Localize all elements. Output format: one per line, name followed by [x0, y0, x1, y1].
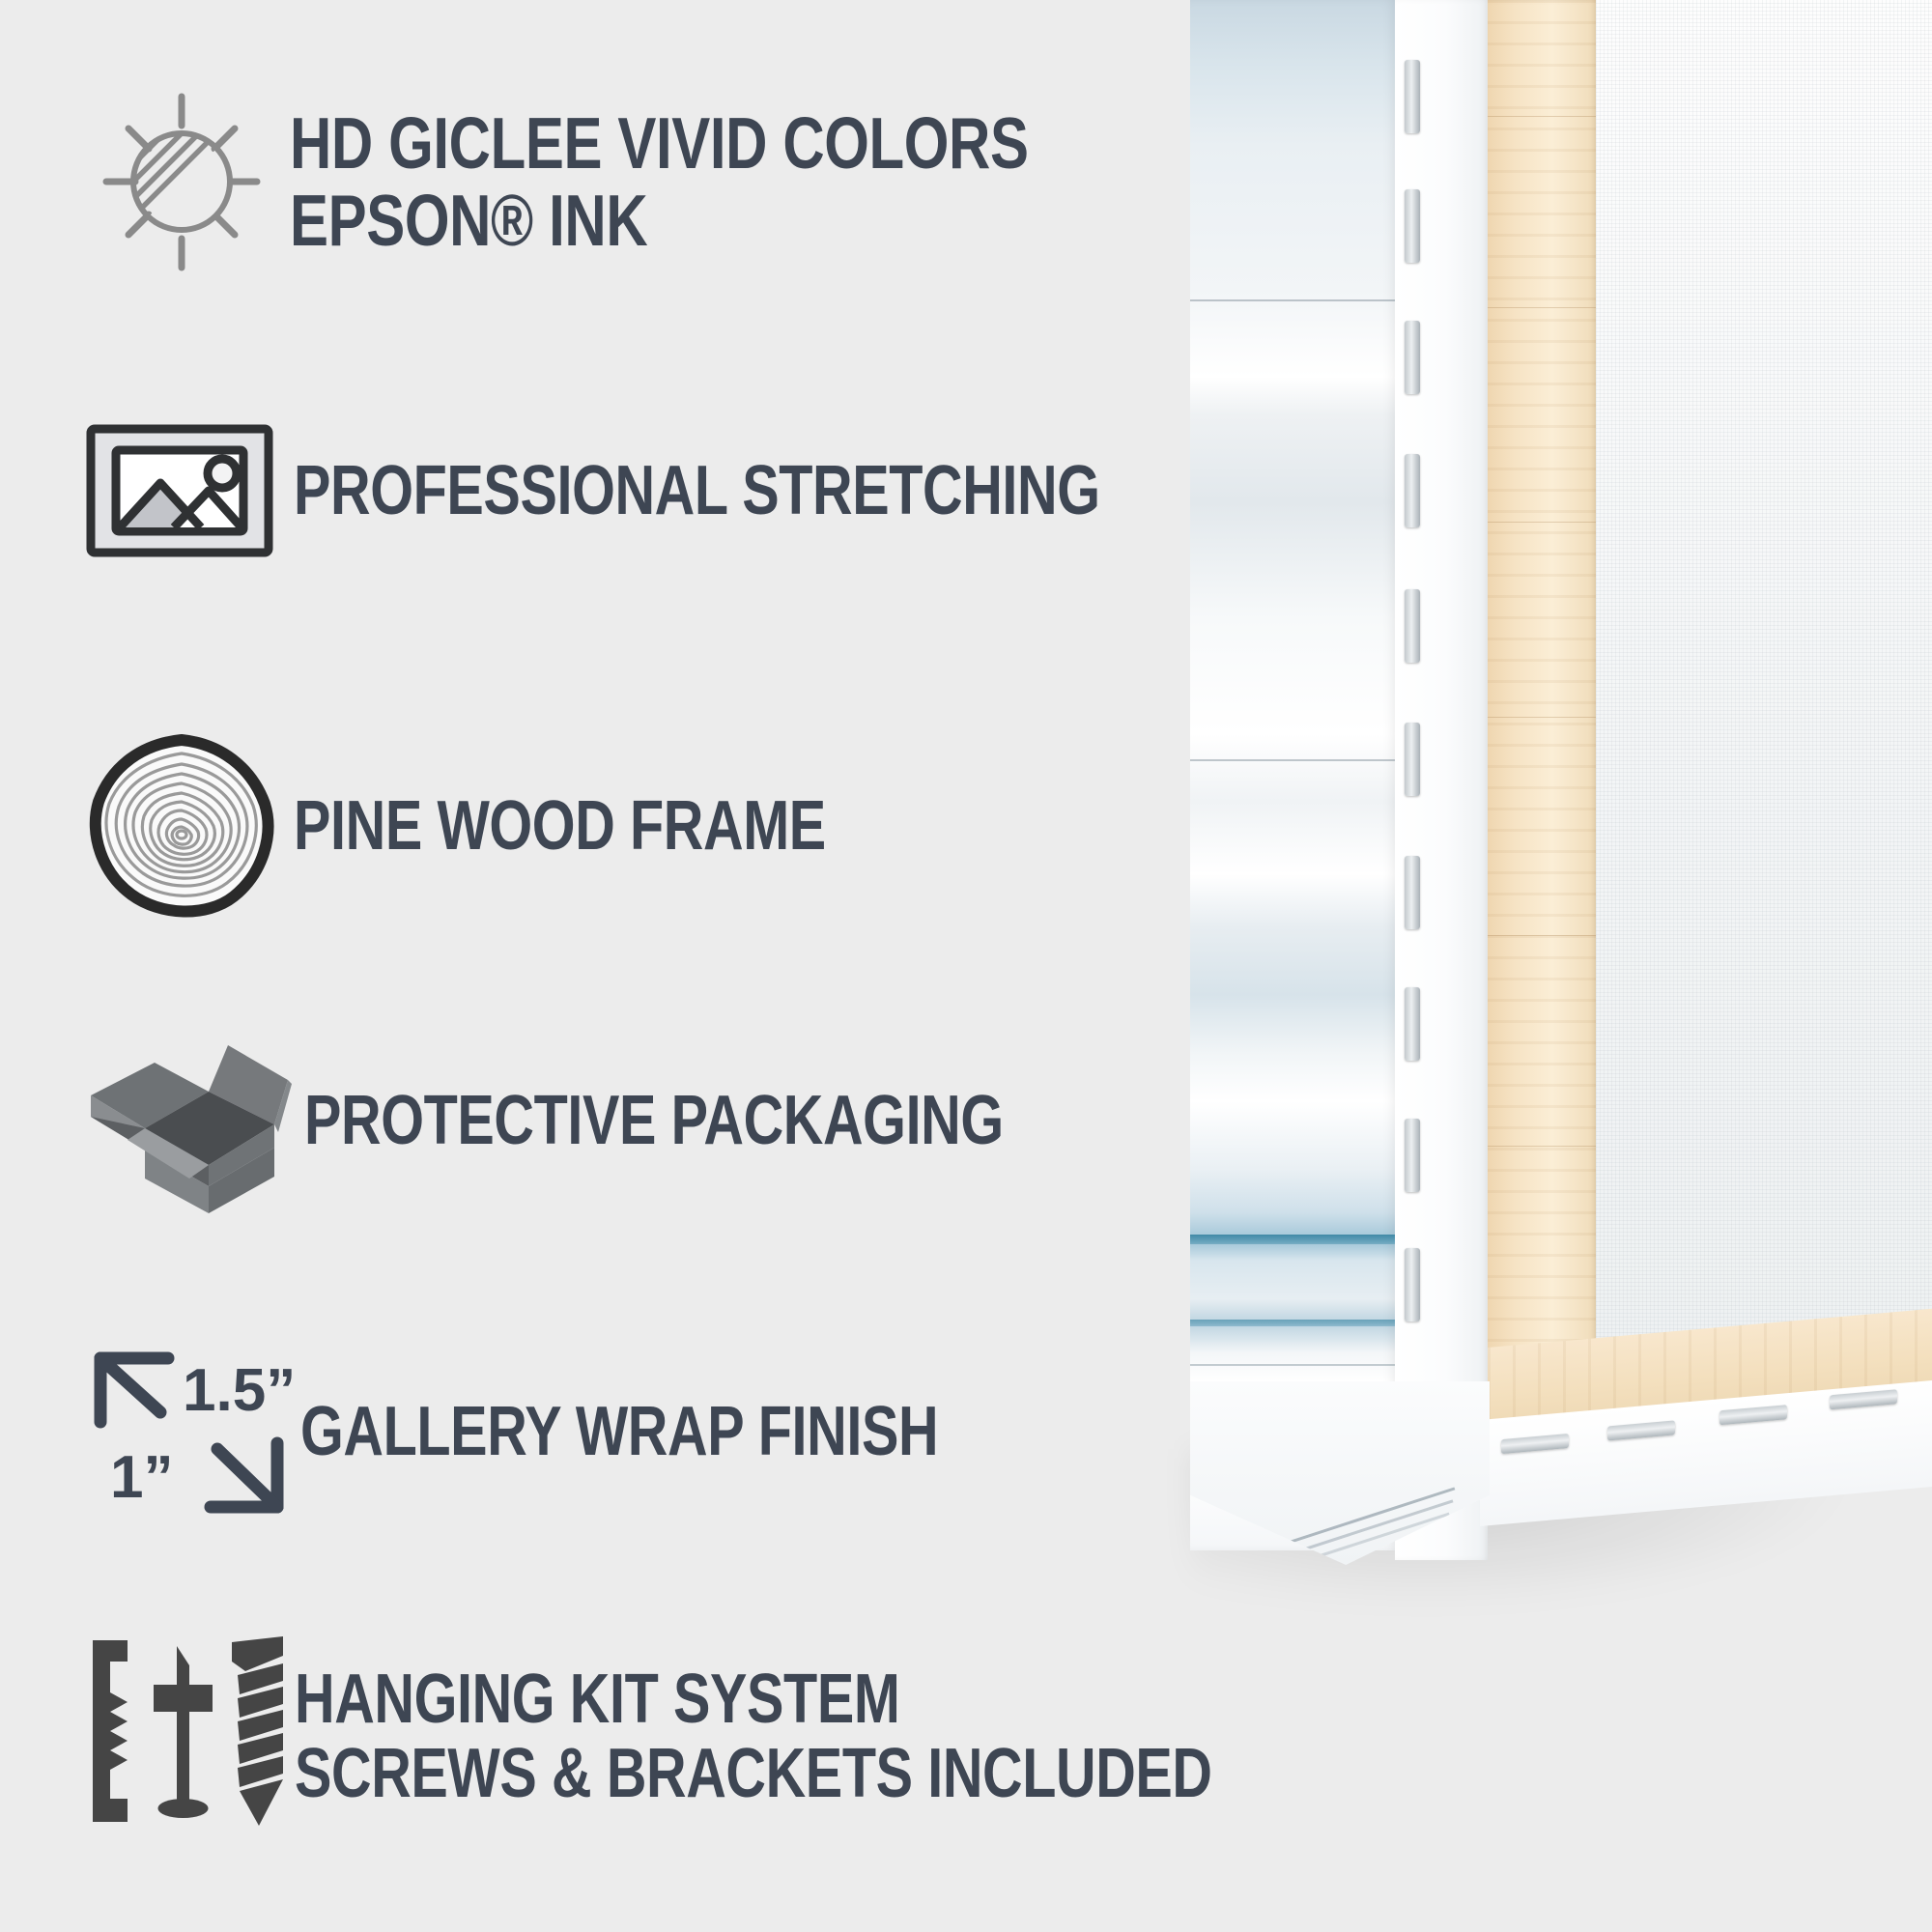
feature-label-hanging: HANGING KIT SYSTEM SCREWS & BRACKETS INC… — [295, 1662, 1212, 1810]
feature-line: PROFESSIONAL STRETCHING — [294, 454, 1100, 527]
depth-primary-text: 1.5” — [183, 1357, 296, 1424]
picture-frame-icon — [85, 423, 278, 558]
hardware-icon — [85, 1633, 283, 1840]
infographic-root: HD GICLEE VIVID COLORS EPSON® INK — [0, 0, 1932, 1932]
staple — [1405, 1248, 1420, 1321]
feature-row-gallery: 1.5” 1” GALLERY WRAP FINISH — [85, 1343, 1097, 1521]
feature-row-stretching: PROFESSIONAL STRETCHING — [85, 423, 1301, 558]
canvas-back-corner-photo — [1190, 0, 1932, 1594]
feature-line: PINE WOOD FRAME — [294, 789, 826, 863]
staple — [1405, 856, 1420, 929]
nail-icon — [154, 1646, 213, 1818]
staple — [1405, 987, 1420, 1061]
feature-row-giclee: HD GICLEE VIVID COLORS EPSON® INK — [85, 83, 1213, 281]
feature-label-giclee: HD GICLEE VIVID COLORS EPSON® INK — [290, 105, 1029, 259]
staple — [1405, 189, 1420, 263]
staple — [1405, 723, 1420, 796]
feature-label-stretching: PROFESSIONAL STRETCHING — [294, 454, 1100, 527]
feature-line: PROTECTIVE PACKAGING — [304, 1084, 1004, 1157]
feature-line: GALLERY WRAP FINISH — [300, 1395, 938, 1468]
feature-row-pine: PINE WOOD FRAME — [85, 734, 959, 918]
pine-stretcher-bar-vertical — [1488, 0, 1596, 1381]
feature-line: HANGING KIT SYSTEM — [295, 1662, 1212, 1736]
staple — [1501, 1434, 1569, 1454]
feature-label-gallery: GALLERY WRAP FINISH — [300, 1395, 938, 1468]
feature-line: SCREWS & BRACKETS INCLUDED — [295, 1737, 1212, 1810]
feature-label-packaging: PROTECTIVE PACKAGING — [304, 1084, 1004, 1157]
feature-label-pine: PINE WOOD FRAME — [294, 789, 826, 863]
staple — [1719, 1405, 1787, 1425]
tree-rings-icon — [85, 734, 278, 918]
staple — [1607, 1420, 1675, 1440]
canvas-back-surface — [1596, 0, 1932, 1352]
open-box-icon — [85, 1024, 293, 1217]
depth-secondary-text: 1” — [110, 1444, 173, 1511]
staple — [1830, 1389, 1897, 1409]
feature-list: HD GICLEE VIVID COLORS EPSON® INK — [0, 0, 1198, 1932]
feature-line: HD GICLEE VIVID COLORS — [290, 105, 1029, 183]
depth-arrows-icon: 1.5” 1” — [85, 1343, 293, 1521]
staple — [1405, 589, 1420, 663]
staple — [1405, 60, 1420, 133]
artwork-wrapped-edge — [1190, 0, 1395, 1550]
feature-row-hanging: HANGING KIT SYSTEM SCREWS & BRACKETS INC… — [85, 1633, 1441, 1840]
bracket-icon — [93, 1640, 128, 1822]
staple — [1405, 1119, 1420, 1192]
screw-icon — [232, 1636, 283, 1826]
staple — [1405, 321, 1420, 394]
feature-row-packaging: PROTECTIVE PACKAGING — [85, 1024, 1179, 1217]
sun-icon — [85, 83, 278, 281]
staple — [1405, 454, 1420, 527]
feature-line: EPSON® INK — [290, 183, 1029, 260]
